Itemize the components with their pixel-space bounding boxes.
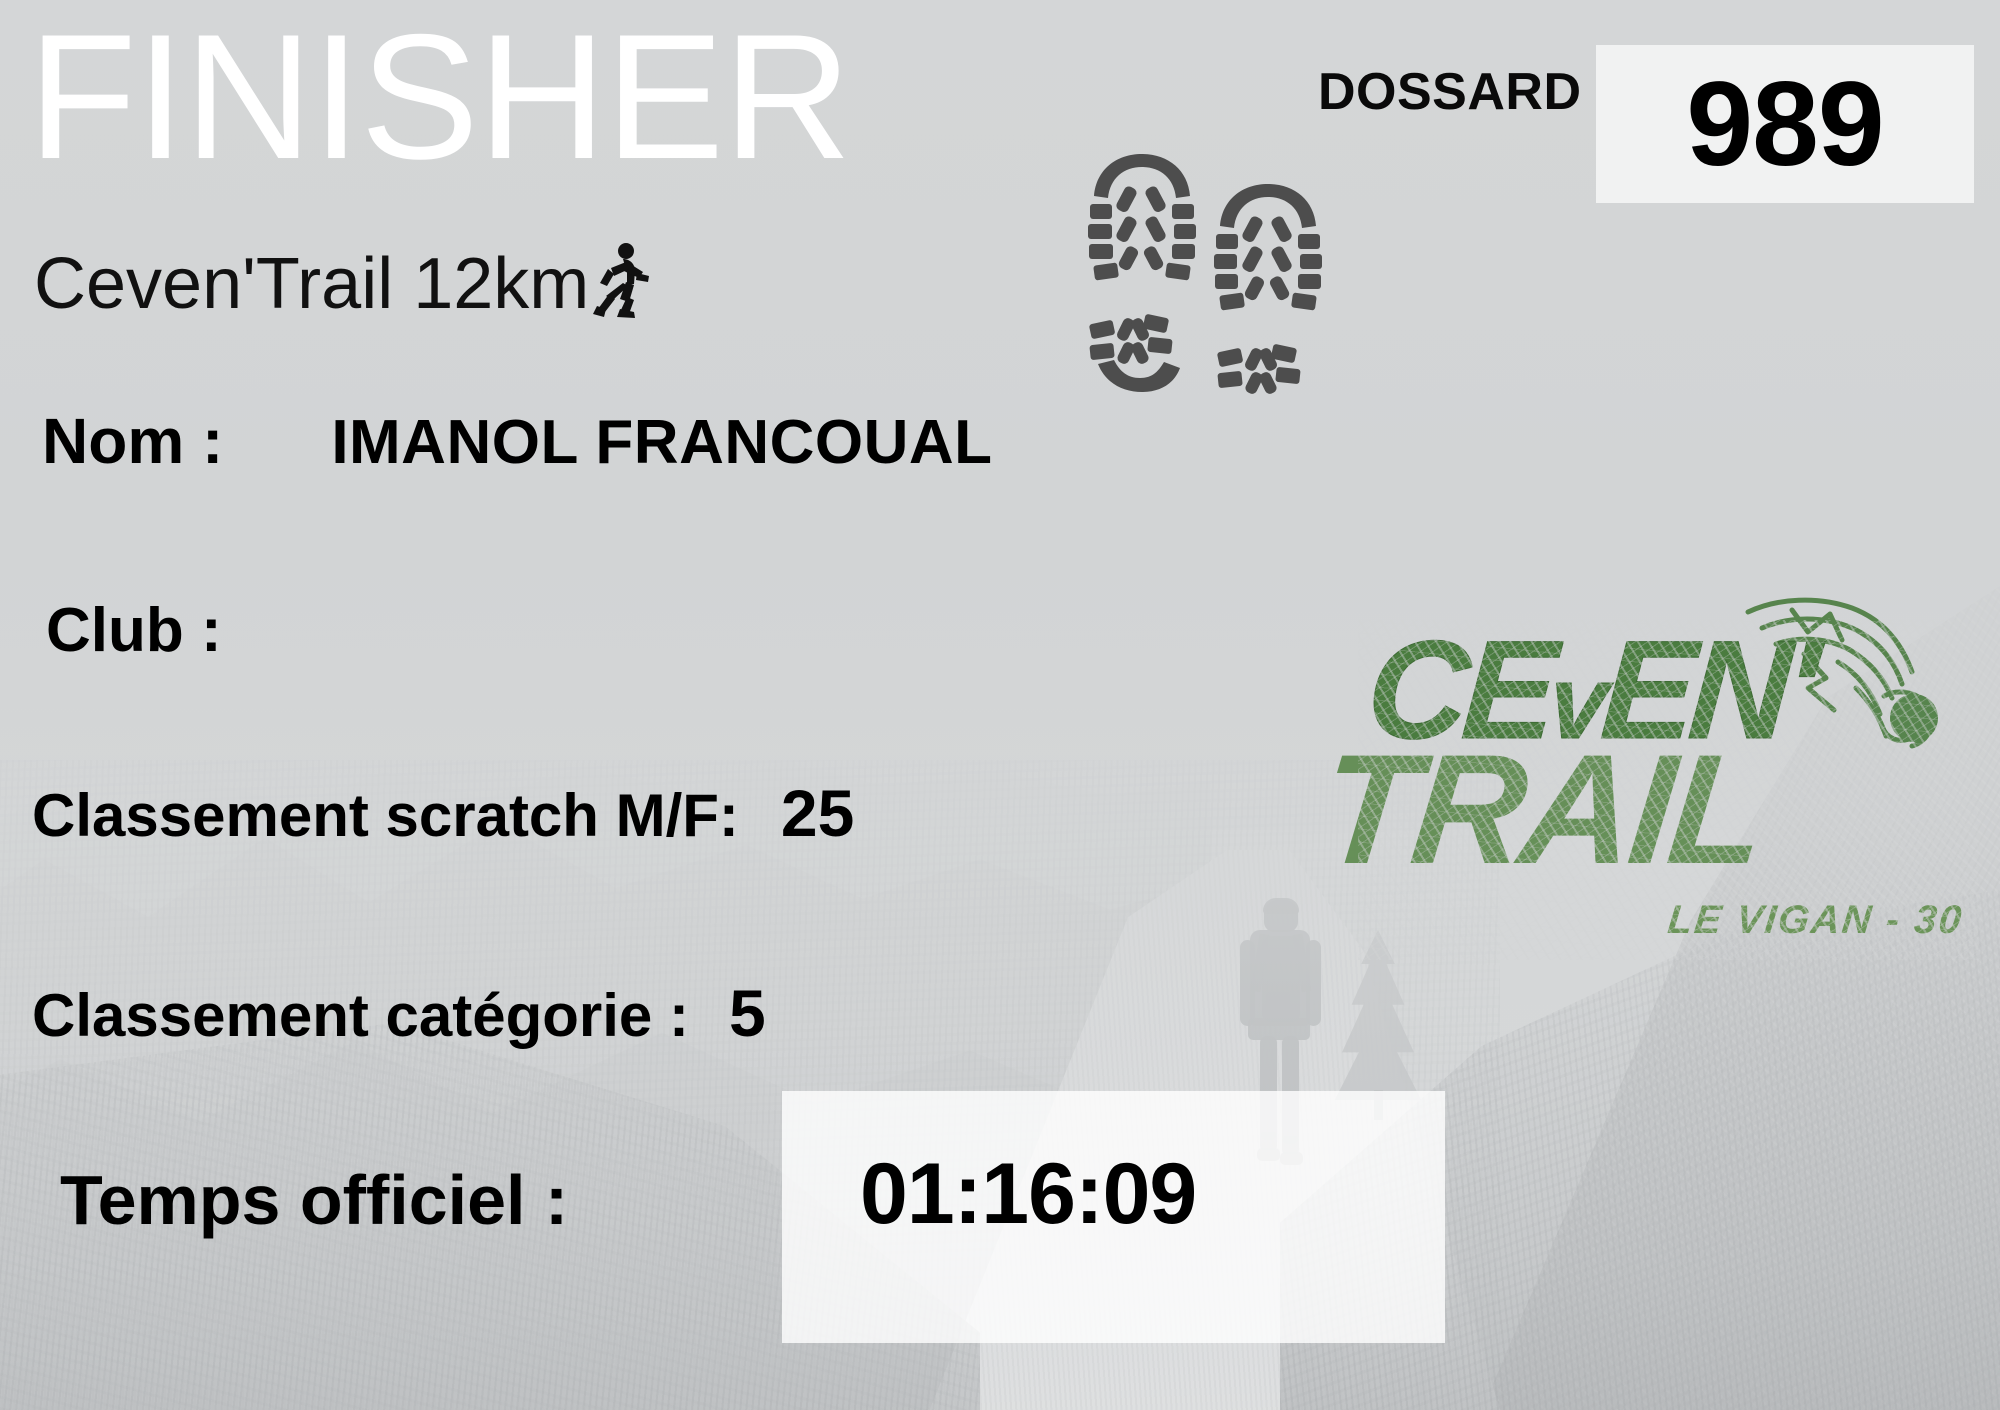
race-name: Ceven'Trail 12km: [34, 246, 653, 322]
running-person-icon: [593, 242, 653, 318]
row-temps-officiel: Temps officiel :: [60, 1160, 568, 1240]
categorie-value: 5: [729, 975, 766, 1051]
page-title: FINISHER: [28, 8, 851, 186]
row-classement-categorie: Classement catégorie : 5: [32, 975, 766, 1051]
row-classement-scratch: Classement scratch M/F: 25: [32, 775, 854, 851]
nom-value: IMANOL FRANCOUAL: [331, 407, 992, 478]
row-club: Club :: [46, 595, 262, 666]
scratch-value: 25: [781, 775, 854, 851]
row-nom: Nom : IMANOL FRANCOUAL: [42, 404, 993, 478]
race-name-label: Ceven'Trail 12km: [34, 248, 589, 320]
categorie-label: Classement catégorie :: [32, 981, 689, 1050]
club-label: Club :: [46, 595, 222, 666]
nom-label: Nom :: [42, 404, 223, 478]
scratch-label: Classement scratch M/F:: [32, 781, 739, 850]
dossard-panel: 989: [1596, 45, 1974, 203]
temps-label: Temps officiel :: [60, 1160, 568, 1240]
certificate-content: FINISHER Ceven'Trail 12km: [0, 0, 2000, 1410]
dossard-value: 989: [1596, 45, 1974, 203]
dossard-label: DOSSARD :: [1318, 62, 1614, 122]
temps-value: 01:16:09: [860, 1145, 1196, 1244]
finisher-certificate: CEvEN' TRAIL LE VIGAN - 30 FINISHER Ceve…: [0, 0, 2000, 1410]
